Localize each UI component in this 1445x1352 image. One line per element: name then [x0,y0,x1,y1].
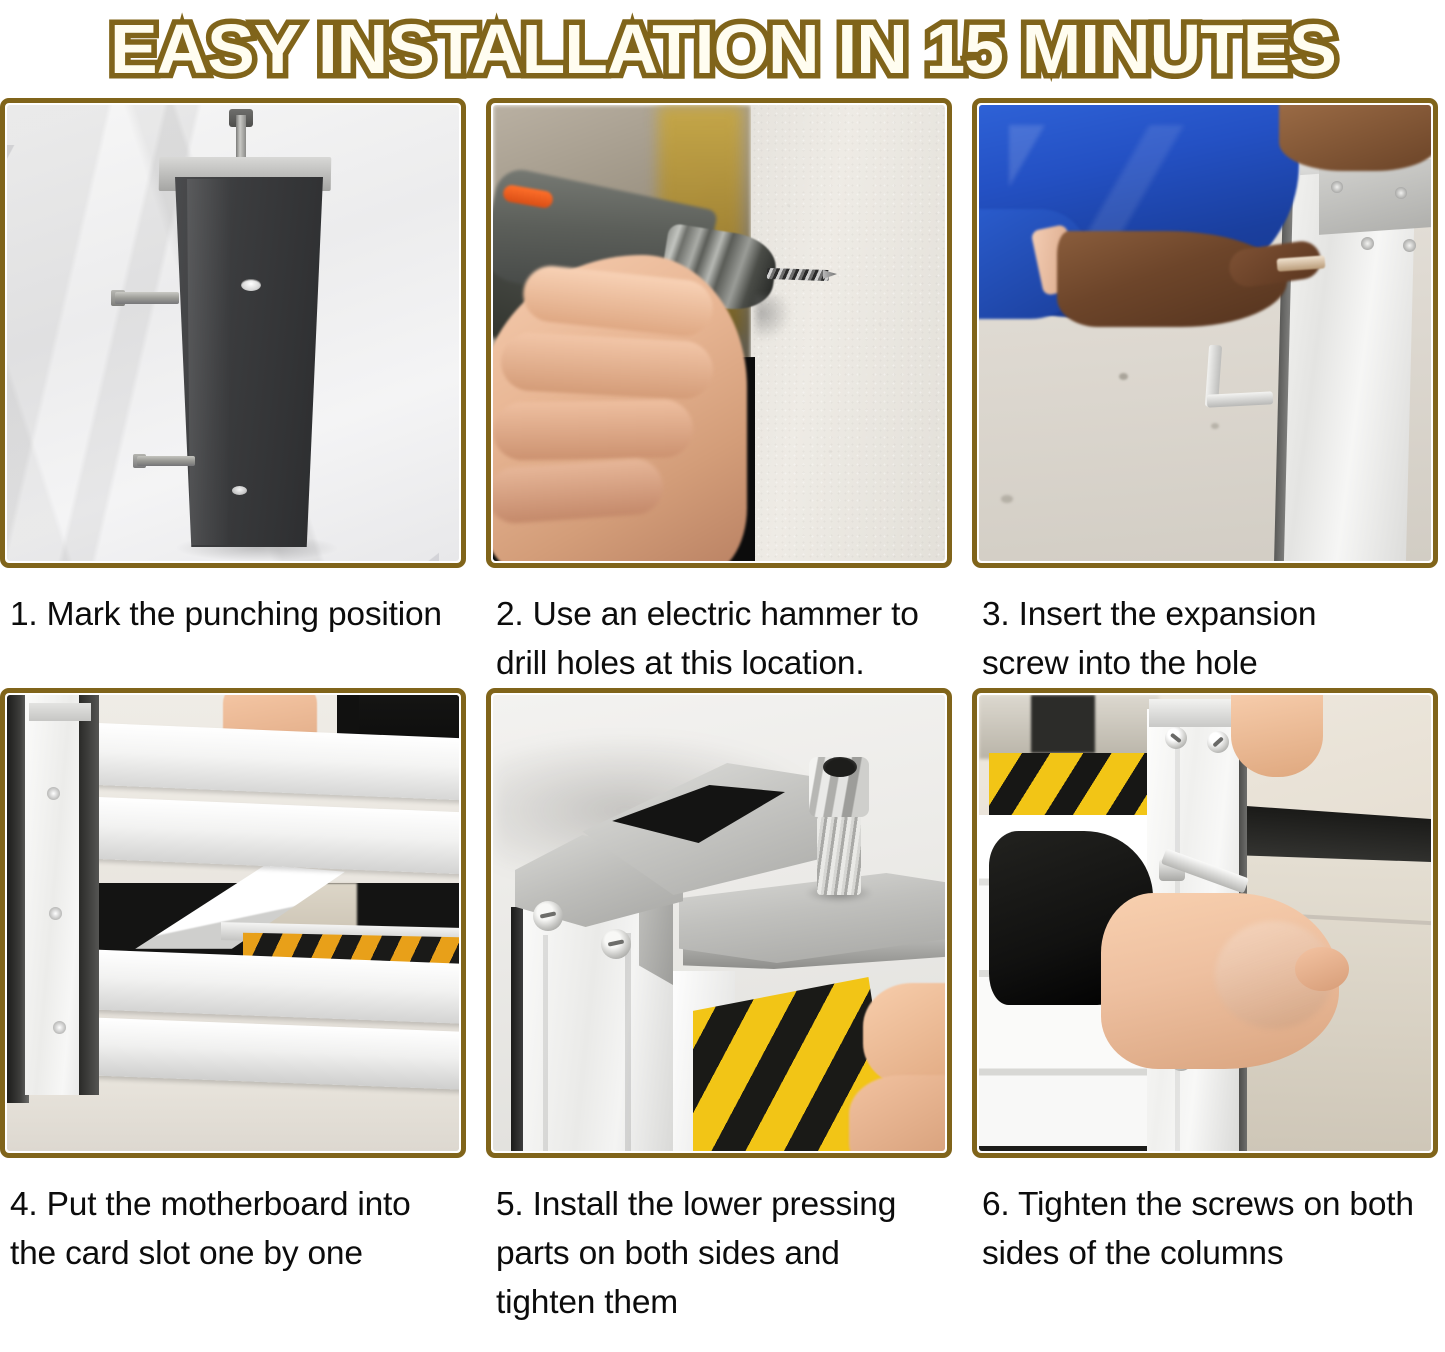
fingertip [1295,947,1349,991]
second-hand [1231,695,1323,777]
column-groove [543,935,548,1151]
step-card-6: 6. Tighten the screws on both sides of t… [972,688,1445,1327]
step-photo-6 [979,695,1431,1151]
screw-icon [1361,237,1374,250]
finger [849,1075,945,1151]
hazard-stripe-tape [989,753,1159,815]
template-stud [236,115,246,163]
step-photo-3 [979,105,1431,561]
plate-sheen [187,179,231,545]
bolt-shaft-upper [115,292,179,304]
drill-bit-icon [767,268,829,281]
step-caption-2: 2. Use an electric hammer to drill holes… [486,568,952,688]
floor-speck [1119,373,1128,380]
bolt-shaft-lower [137,456,195,466]
finger [500,331,715,400]
step-caption-1: 1. Mark the punching position [0,568,466,639]
steps-grid-top: 1. Mark the punching position [0,98,1445,688]
page-title-bar: EASY INSTALLATION IN 15 MINUTES [0,0,1445,98]
step-caption-4: 4. Put the motherboard into the card slo… [0,1158,466,1278]
step-photo-frame-4 [0,688,466,1158]
screw-icon [1395,187,1407,199]
step-card-2: 2. Use an electric hammer to drill holes… [486,98,958,688]
column-top-cap [29,703,91,721]
step-card-5: 5. Install the lower pressing parts on b… [486,688,958,1327]
template-hole-lower [232,486,247,495]
step-photo-frame-2 [486,98,952,568]
step-card-1: 1. Mark the punching position [0,98,472,688]
step-photo-5 [493,695,945,1151]
floor-speck [1001,495,1013,503]
step-caption-6: 6. Tighten the screws on both sides of t… [972,1158,1438,1278]
step-photo-4 [7,695,459,1151]
finger [863,983,945,1087]
upper-hand [1279,105,1431,171]
screw-icon [53,1021,66,1034]
step-card-3: 3. Insert the expansion screw into the h… [972,98,1445,688]
column-slot-rail [79,695,99,1095]
step-photo-frame-1 [0,98,466,568]
step-caption-3: 3. Insert the expansion screw into the h… [972,568,1438,688]
column-groove [625,933,631,1151]
step-photo-1 [7,105,459,561]
bolt-hex-socket [823,757,857,777]
template-hole-upper [241,279,261,291]
finger [493,399,693,460]
step-photo-frame-3 [972,98,1438,568]
screw-icon [49,907,62,920]
bolt-thread [817,807,861,895]
step-photo-2 [493,105,945,561]
screw-icon [1331,181,1343,193]
screw-icon [1403,239,1416,252]
page-title: EASY INSTALLATION IN 15 MINUTES [99,13,1345,85]
steps-grid-bottom: 4. Put the motherboard into the card slo… [0,688,1445,1327]
step-photo-frame-6 [972,688,1438,1158]
drill-dust [755,295,791,341]
floor-speck [1211,423,1219,429]
background-dark-area [1031,695,1095,753]
step-caption-5: 5. Install the lower pressing parts on b… [486,1158,952,1327]
screw-icon [47,787,60,800]
step-photo-frame-5 [486,688,952,1158]
step-card-4: 4. Put the motherboard into the card slo… [0,688,472,1327]
